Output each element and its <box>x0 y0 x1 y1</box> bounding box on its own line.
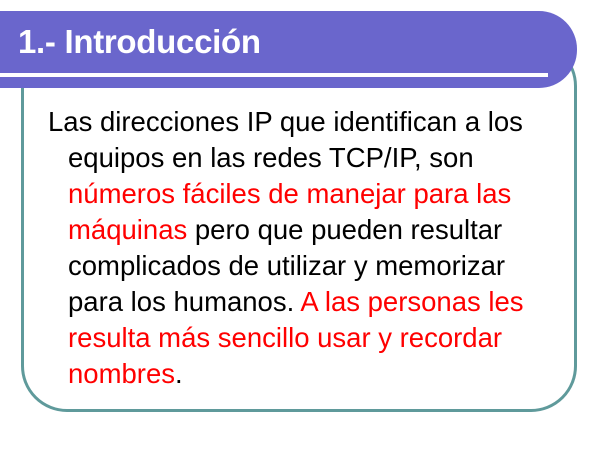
body-paragraph: Las direcciones IP que identifican a los… <box>48 104 560 392</box>
title-underline-rule <box>0 73 548 77</box>
slide-body: Las direcciones IP que identifican a los… <box>48 104 560 392</box>
body-segment-0: Las direcciones IP que identifican a los… <box>48 106 523 173</box>
slide-title: 1.- Introducción <box>18 21 261 63</box>
slide-title-banner: 1.- Introducción <box>0 11 577 88</box>
presentation-slide: 1.- Introducción Las direcciones IP que … <box>0 0 600 450</box>
body-segment-4: . <box>175 358 183 389</box>
